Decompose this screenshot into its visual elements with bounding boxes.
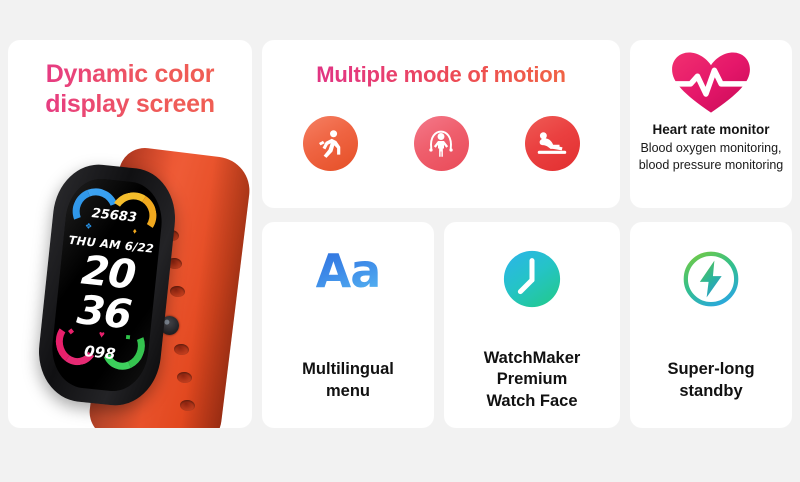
footstep-icon: ❖ (85, 221, 93, 231)
heart-rate-title: Heart rate monitor (630, 122, 792, 137)
clock-icon (444, 248, 620, 310)
card-watchmaker-premium: WatchMaker Premium Watch Face (444, 222, 620, 428)
multilingual-label-line-1: Multilingual (268, 359, 428, 380)
sit-up-icon[interactable] (525, 116, 580, 171)
smart-watch-image: 25683 ❖ ♦ THU AM 6/22 20 36 ♥ ◆ ■ 098 (8, 158, 252, 428)
running-icon[interactable] (303, 116, 358, 171)
standby-label-line-1: Super-long (636, 359, 786, 380)
aa-text-icon: Aa (262, 248, 434, 294)
battery-lock-icon: ■ (125, 332, 131, 341)
motion-title-part-1: Multiple mode (316, 62, 461, 87)
multilingual-label: Multilingual menu (262, 359, 434, 402)
watchmaker-label-line-2: Premium (450, 369, 614, 390)
card-multilingual-menu: Aa Multilingual menu (262, 222, 434, 428)
blood-drop-icon: ◆ (68, 326, 75, 336)
watchmaker-label-line-1: WatchMaker (450, 348, 614, 369)
infographic-page: Dynamic color display screen 25683 ❖ (0, 0, 800, 482)
heart-pulse-icon (630, 50, 792, 116)
card-dynamic-color-display: Dynamic color display screen 25683 ❖ (8, 40, 252, 428)
watch-screen: 25683 ❖ ♦ THU AM 6/22 20 36 ♥ ◆ ■ 098 (48, 176, 165, 395)
motion-icon-row (262, 116, 620, 171)
jump-rope-icon[interactable] (414, 116, 469, 171)
motion-title-part-2: of motion (461, 62, 565, 87)
battery-bolt-icon (630, 248, 792, 310)
card-heart-rate-monitor: Heart rate monitor Blood oxygen monitori… (630, 40, 792, 208)
card-dynamic-color-title: Dynamic color display screen (8, 60, 252, 119)
multilingual-label-line-2: menu (268, 381, 428, 402)
heart-rate-subtitle: Blood oxygen monitoring, blood pressure … (630, 140, 792, 173)
title-line-1: Dynamic color (8, 60, 252, 90)
watchmaker-label: WatchMaker Premium Watch Face (444, 348, 620, 412)
standby-label: Super-long standby (630, 359, 792, 402)
aa-glyph: Aa (316, 248, 381, 294)
watchmaker-label-line-3: Watch Face (450, 391, 614, 412)
card-multiple-motion-modes: Multiple mode of motion (262, 40, 620, 208)
card-motion-title: Multiple mode of motion (262, 62, 620, 88)
card-super-long-standby: Super-long standby (630, 222, 792, 428)
title-line-2: display screen (8, 90, 252, 120)
standby-label-line-2: standby (636, 381, 786, 402)
